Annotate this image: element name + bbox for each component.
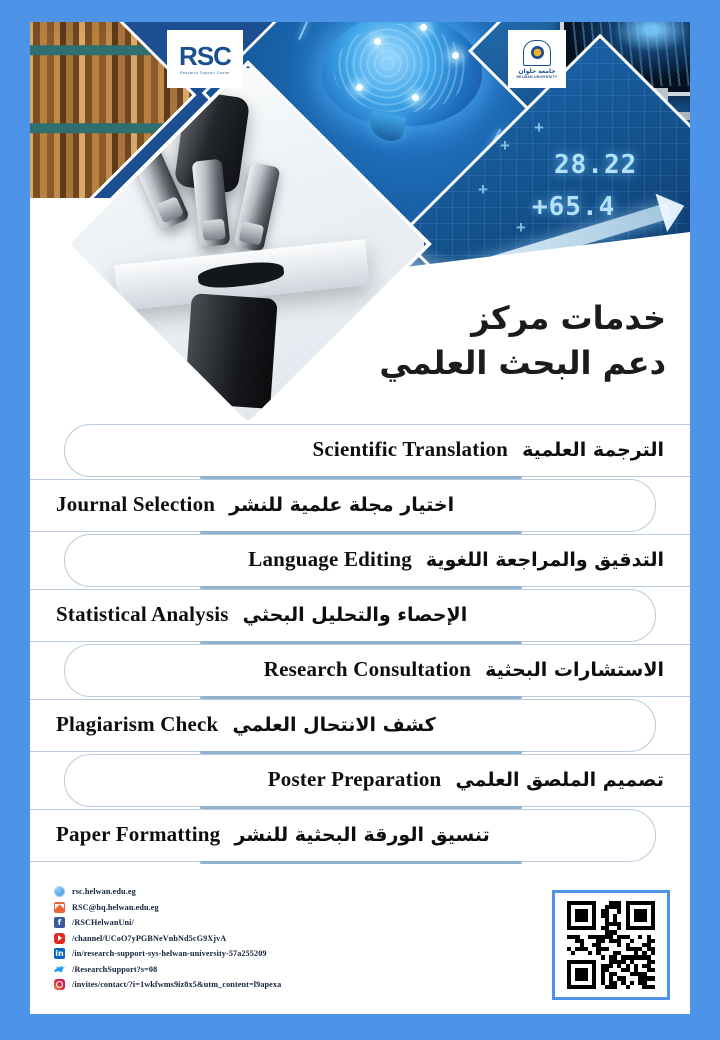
service-label-en: Statistical Analysis xyxy=(56,602,229,627)
service-label-en: Language Editing xyxy=(248,547,412,572)
facebook-icon[interactable]: f xyxy=(54,917,65,928)
twitter-icon[interactable] xyxy=(54,964,65,975)
poster-title: خدمات مركز دعم البحث العلمي xyxy=(379,296,666,387)
service-label-en: Scientific Translation xyxy=(313,437,509,462)
service-label-en: Paper Formatting xyxy=(56,822,220,847)
contact-text: rsc.helwan.edu.eg xyxy=(72,887,136,896)
service-label-group: Language Editingالتدقيق والمراجعة اللغوي… xyxy=(248,532,664,587)
service-row: Plagiarism Checkكشف الانتحال العلمي xyxy=(30,697,690,752)
qr-code[interactable] xyxy=(552,890,670,1000)
contact-list: rsc.helwan.edu.egRSC@hq.helwan.edu.egf/R… xyxy=(54,884,281,993)
service-row: Research Consultationالاستشارات البحثية xyxy=(30,642,690,697)
contact-row[interactable]: /channel/UCoO7yPGBNeVnbNd5cG9XjvA xyxy=(54,931,281,947)
helwan-crest-icon xyxy=(523,40,551,66)
contact-row[interactable]: in/in/research-support-sys-helwan-univer… xyxy=(54,946,281,962)
helwan-logo-arabic: جامعة حلوان xyxy=(518,68,555,75)
service-label-en: Journal Selection xyxy=(56,492,215,517)
helwan-logo-english: HELWAN UNIVERSITY xyxy=(517,75,558,79)
youtube-icon[interactable] xyxy=(54,933,65,944)
contact-text: /invites/contact/?i=1wkfwms9iz8x5&utm_co… xyxy=(72,980,281,989)
service-label-ar: الترجمة العلمية xyxy=(522,439,664,461)
helwan-university-logo: جامعة حلوان HELWAN UNIVERSITY xyxy=(508,30,566,88)
stock-number-1: 28.22 xyxy=(554,150,637,180)
service-label-ar: كشف الانتحال العلمي xyxy=(232,714,435,736)
service-row: Paper Formattingتنسيق الورقة البحثية للن… xyxy=(30,807,690,862)
contact-text: /channel/UCoO7yPGBNeVnbNd5cG9XjvA xyxy=(72,934,226,943)
service-label-ar: التدقيق والمراجعة اللغوية xyxy=(426,549,664,571)
service-label-group: Paper Formattingتنسيق الورقة البحثية للن… xyxy=(56,807,490,862)
service-label-ar: تصميم الملصق العلمي xyxy=(455,769,664,791)
instagram-icon[interactable] xyxy=(54,979,65,990)
services-list: Scientific Translationالترجمة العلميةJou… xyxy=(30,422,690,862)
service-row: Journal Selectionاختيار مجلة علمية للنشر xyxy=(30,477,690,532)
contact-row[interactable]: f/RSCHelwanUni/ xyxy=(54,915,281,931)
title-line-2: دعم البحث العلمي xyxy=(379,341,666,386)
service-label-ar: تنسيق الورقة البحثية للنشر xyxy=(234,824,489,846)
service-label-ar: الإحصاء والتحليل البحثي xyxy=(243,604,468,626)
service-label-en: Plagiarism Check xyxy=(56,712,218,737)
stock-number-2: +65.4 xyxy=(532,192,615,222)
service-label-en: Research Consultation xyxy=(264,657,471,682)
contact-text: /RSCHelwanUni/ xyxy=(72,918,134,927)
service-label-ar: الاستشارات البحثية xyxy=(485,659,664,681)
rsc-logo: RSC Research Support Center xyxy=(167,30,243,88)
rsc-logo-text: RSC xyxy=(179,43,231,69)
qr-code-matrix xyxy=(567,901,655,989)
linkedin-icon[interactable]: in xyxy=(54,948,65,959)
contact-row[interactable]: /invites/contact/?i=1wkfwms9iz8x5&utm_co… xyxy=(54,977,281,993)
footer: rsc.helwan.edu.egRSC@hq.helwan.edu.egf/R… xyxy=(30,878,690,1008)
service-row: Scientific Translationالترجمة العلمية xyxy=(30,422,690,477)
service-row: Statistical Analysisالإحصاء والتحليل الب… xyxy=(30,587,690,642)
poster-sheet: 28.22 +65.4 1194.38 12.00 0.011 -28.00 +… xyxy=(30,22,690,1014)
contact-row[interactable]: /ResearchSupport?s=08 xyxy=(54,962,281,978)
contact-text: RSC@hq.helwan.edu.eg xyxy=(72,903,159,912)
service-label-group: Journal Selectionاختيار مجلة علمية للنشر xyxy=(56,477,454,532)
contact-text: /ResearchSupport?s=08 xyxy=(72,965,157,974)
website-icon[interactable] xyxy=(54,886,65,897)
contact-row[interactable]: rsc.helwan.edu.eg xyxy=(54,884,281,900)
service-row: Poster Preparationتصميم الملصق العلمي xyxy=(30,752,690,807)
title-line-1: خدمات مركز xyxy=(379,296,666,341)
service-label-group: Poster Preparationتصميم الملصق العلمي xyxy=(268,752,664,807)
service-label-en: Poster Preparation xyxy=(268,767,442,792)
contact-text: /in/research-support-sys-helwan-universi… xyxy=(72,949,267,958)
rsc-logo-subtext: Research Support Center xyxy=(180,71,230,75)
service-label-group: Statistical Analysisالإحصاء والتحليل الب… xyxy=(56,587,467,642)
service-label-group: Research Consultationالاستشارات البحثية xyxy=(264,642,664,697)
email-icon[interactable] xyxy=(54,902,65,913)
service-label-group: Scientific Translationالترجمة العلمية xyxy=(313,422,664,477)
service-label-group: Plagiarism Checkكشف الانتحال العلمي xyxy=(56,697,436,752)
contact-row[interactable]: RSC@hq.helwan.edu.eg xyxy=(54,900,281,916)
poster-root: 28.22 +65.4 1194.38 12.00 0.011 -28.00 +… xyxy=(0,0,720,1040)
service-row: Language Editingالتدقيق والمراجعة اللغوي… xyxy=(30,532,690,587)
service-label-ar: اختيار مجلة علمية للنشر xyxy=(229,494,454,516)
